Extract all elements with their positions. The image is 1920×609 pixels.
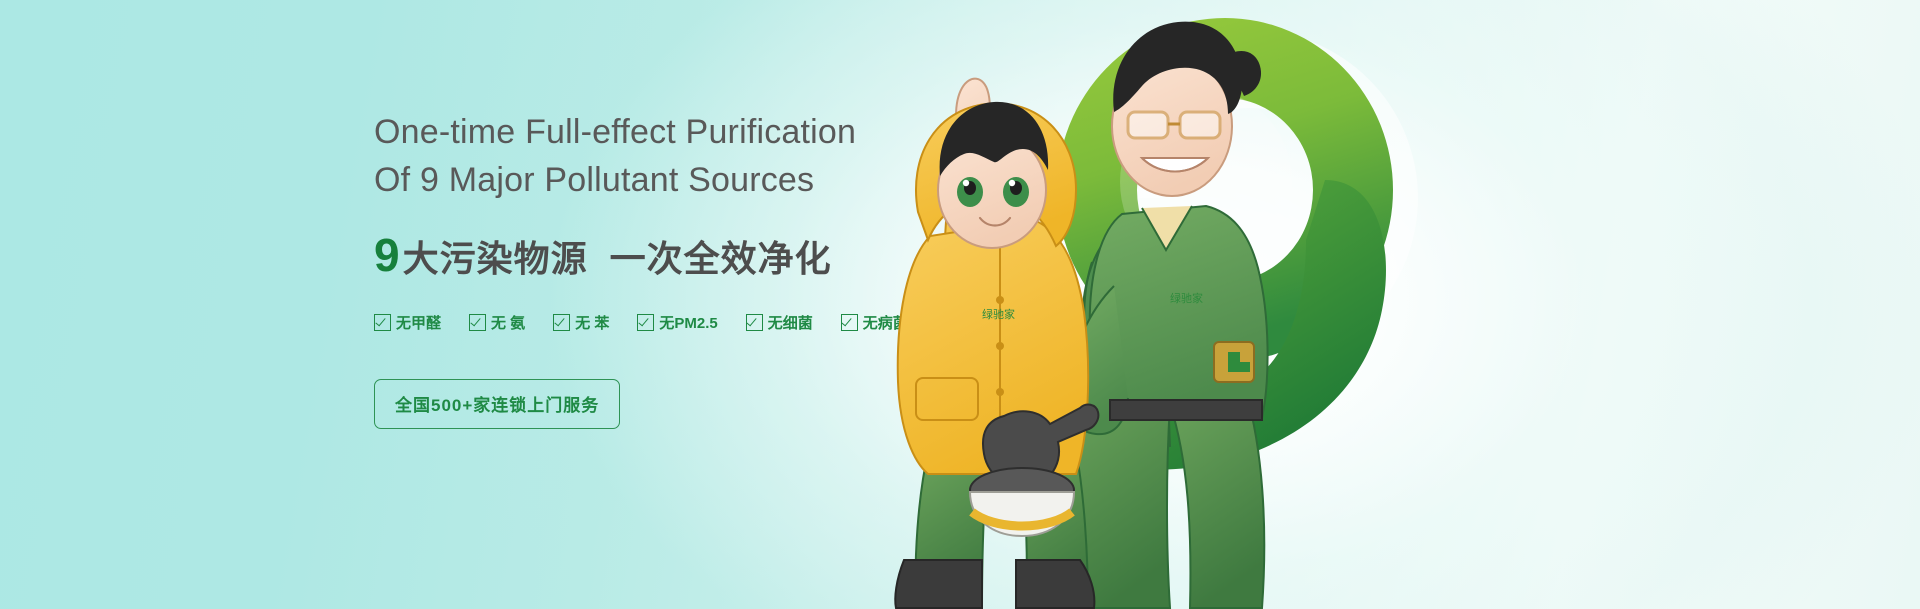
mascot-illustration: 绿驰家 [870,0,1920,609]
checkbox-checked-icon [553,314,570,331]
headline-chinese-part-b: 一次全效净化 [610,230,832,282]
promo-banner: One-time Full-effect Purification Of 9 M… [0,0,1920,609]
feature-item-bacteria: 无细菌 [746,312,813,333]
nationwide-service-button[interactable]: 全国500+家连锁上门服务 [374,379,620,429]
feature-item-ammonia: 无 氨 [469,312,525,333]
feature-label: 无PM2.5 [659,312,717,333]
adult-badge-text: 绿驰家 [1170,291,1203,305]
checkbox-checked-icon [374,314,391,331]
child-badge-text: 绿驰家 [982,307,1015,321]
feature-label: 无甲醛 [396,312,441,333]
checkbox-checked-icon [637,314,654,331]
headline-chinese-part-a: 大污染物源 [403,230,588,282]
headline-numeral-nine: 9 [374,232,401,278]
checkbox-checked-icon [746,314,763,331]
checkbox-checked-icon [841,314,858,331]
feature-label: 无 氨 [491,312,525,333]
checkbox-checked-icon [469,314,486,331]
feature-item-formaldehyde: 无甲醛 [374,312,441,333]
feature-label: 无 苯 [575,312,609,333]
feature-label: 无细菌 [768,312,813,333]
feature-item-benzene: 无 苯 [553,312,609,333]
feature-item-pm25: 无PM2.5 [637,312,717,333]
